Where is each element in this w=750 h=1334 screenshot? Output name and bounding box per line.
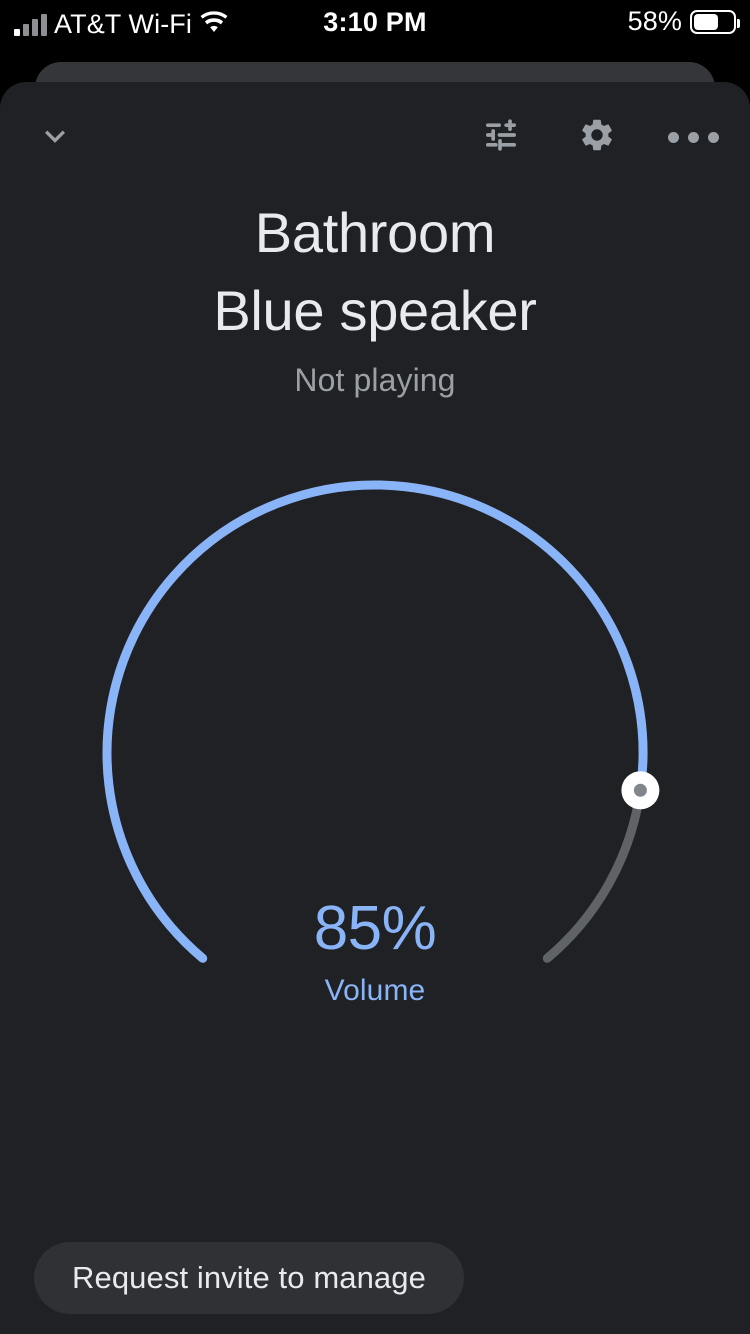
volume-label: Volume [0,974,750,1008]
more-horizontal-icon [668,132,719,143]
sheet-toolbar [0,82,750,194]
status-bar: AT&T Wi-Fi 3:10 PM 58% [0,0,750,52]
volume-readout: 85% Volume [0,898,750,1008]
gear-icon [578,116,616,159]
phone-screen: AT&T Wi-Fi 3:10 PM 58% [0,0,750,1334]
equalizer-sliders-icon [481,115,521,160]
device-title-block: Bathroom Blue speaker Not playing [0,194,750,399]
volume-dial-progress [107,485,643,958]
status-bar-right: 58% [628,6,736,37]
page-title: Bathroom Blue speaker [0,194,750,350]
volume-value: 85% [0,898,750,960]
volume-dial-thumb [621,771,659,809]
battery-percent-label: 58% [628,6,682,37]
playback-status-label: Not playing [0,362,750,399]
bottom-action-bar: Request invite to manage [0,1242,750,1314]
request-invite-button[interactable]: Request invite to manage [34,1242,464,1314]
collapse-sheet-button[interactable] [22,104,88,170]
chevron-down-icon [35,115,75,160]
more-options-button[interactable] [660,104,726,170]
battery-icon [690,10,736,34]
equalizer-button[interactable] [468,104,534,170]
settings-button[interactable] [564,104,630,170]
device-control-sheet: Bathroom Blue speaker Not playing 85% Vo… [0,82,750,1334]
volume-dial-track [547,790,640,958]
